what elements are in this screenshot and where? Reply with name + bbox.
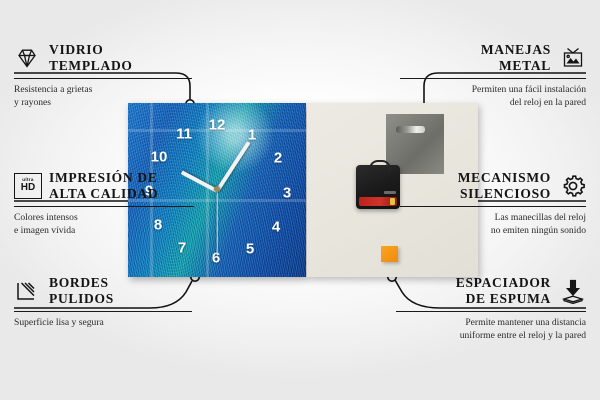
feature-header: VIDRIO TEMPLADO: [14, 42, 192, 74]
feature-divider: [14, 206, 194, 208]
feature-divider: [14, 311, 192, 313]
wall-frame-icon: [560, 45, 586, 71]
feature-subtitle-line2: del reloj en la pared: [400, 97, 586, 110]
feature-subtitle-line1: Colores intensos: [14, 212, 194, 225]
clock-number-10: 10: [151, 150, 168, 165]
feature-impresion-alta-calidad: ultra HD IMPRESIÓN DE ALTA CALIDAD Color…: [14, 170, 194, 238]
hanger-slot: [396, 126, 425, 133]
feature-header: ESPACIADOR DE ESPUMA: [396, 275, 586, 307]
battery-compartment: [359, 197, 397, 206]
feature-title: VIDRIO TEMPLADO: [49, 42, 133, 74]
clock-number-7: 7: [178, 241, 186, 256]
foam-spacer: [381, 246, 398, 262]
feature-subtitle-line1: Las manecillas del reloj: [400, 212, 586, 225]
feature-subtitle-line1: Resistencia a grietas: [14, 84, 192, 97]
ultra-hd-icon: ultra HD: [14, 173, 40, 199]
ultra-hd-badge-main: HD: [21, 183, 35, 193]
feature-title: IMPRESIÓN DE ALTA CALIDAD: [49, 170, 158, 202]
polished-edges-icon: [14, 278, 40, 304]
feature-mecanismo-silencioso: MECANISMO SILENCIOSO Las manecillas del …: [400, 170, 586, 238]
mechanism-hanging-loop: [369, 160, 391, 171]
feature-subtitle-line1: Permite mantener una distancia: [396, 317, 586, 330]
arrow-down-block-icon: [560, 278, 586, 304]
feature-divider: [400, 206, 586, 208]
diamond-icon: [14, 45, 40, 71]
feature-header: MANEJAS METAL: [400, 42, 586, 74]
feature-divider: [396, 311, 586, 313]
clock-number-3: 3: [283, 186, 291, 201]
clock-second-hand: [216, 190, 217, 256]
clock-mechanism: [356, 165, 400, 209]
clock-number-1: 1: [248, 128, 256, 143]
gear-icon: [560, 173, 586, 199]
feature-divider: [400, 78, 586, 80]
feature-subtitle-line2: e imagen vívida: [14, 225, 194, 238]
feature-manejas-metal: MANEJAS METAL Permiten una fácil instala…: [400, 42, 586, 110]
clock-number-5: 5: [246, 242, 254, 257]
feature-subtitle-line1: Permiten una fácil instalación: [400, 84, 586, 97]
ultra-hd-badge: ultra HD: [14, 173, 42, 199]
feature-subtitle-line2: uniforme entre el reloj y la pared: [396, 330, 586, 343]
feature-divider: [14, 78, 192, 80]
battery-terminal: [390, 198, 395, 205]
feature-title: MECANISMO SILENCIOSO: [458, 170, 551, 202]
feature-subtitle-line2: no emiten ningún sonido: [400, 225, 586, 238]
feature-title: ESPACIADOR DE ESPUMA: [456, 275, 551, 307]
feature-vidrio-templado: VIDRIO TEMPLADO Resistencia a grietas y …: [14, 42, 192, 110]
feature-bordes-pulidos: BORDES PULIDOS Superficie lisa y segura: [14, 275, 192, 330]
feature-subtitle-line1: Superficie lisa y segura: [14, 317, 192, 330]
feature-espaciador-de-espuma: ESPACIADOR DE ESPUMA Permite mantener un…: [396, 275, 586, 343]
clock-number-11: 11: [176, 127, 192, 142]
feature-title: BORDES PULIDOS: [49, 275, 114, 307]
clock-number-4: 4: [272, 220, 280, 235]
feature-header: MECANISMO SILENCIOSO: [400, 170, 586, 202]
clock-number-12: 12: [209, 118, 226, 133]
mechanism-dial: [384, 191, 396, 194]
infographic-canvas: 12 1 2 3 4 5 6 7 8 9 10 11: [0, 0, 600, 400]
clock-center-cap: [214, 186, 220, 192]
feature-subtitle-line2: y rayones: [14, 97, 192, 110]
feature-header: ultra HD IMPRESIÓN DE ALTA CALIDAD: [14, 170, 194, 202]
feature-title: MANEJAS METAL: [481, 42, 551, 74]
feature-header: BORDES PULIDOS: [14, 275, 192, 307]
clock-number-2: 2: [274, 151, 282, 166]
